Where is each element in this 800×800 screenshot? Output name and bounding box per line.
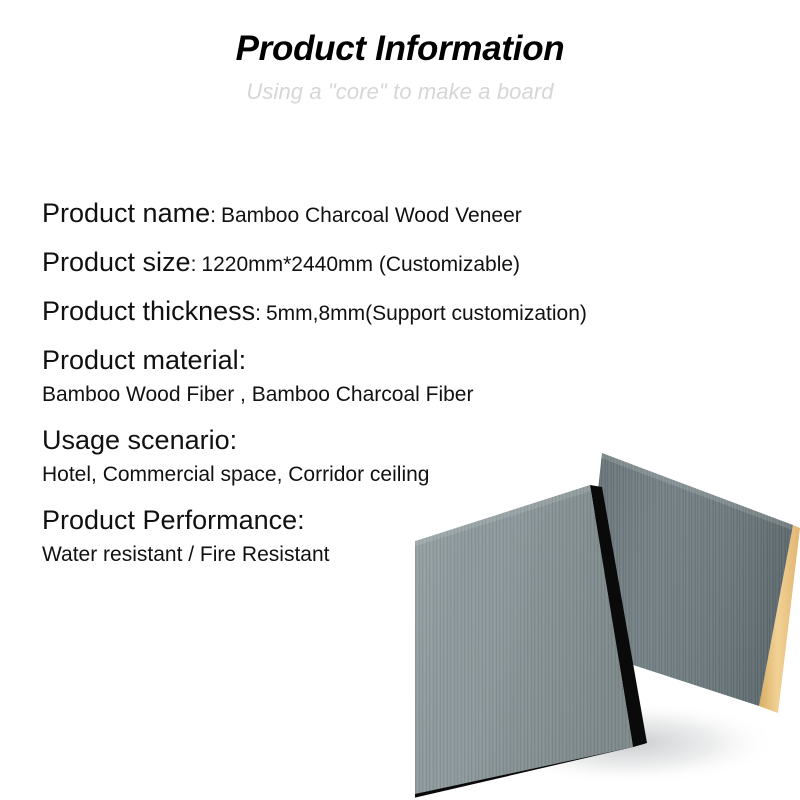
spec-row-product-performance-value: Water resistant / Fire Resistant	[42, 544, 702, 565]
spec-row-product-size: Product size:1220mm*2440mm (Customizable…	[42, 249, 702, 276]
spec-label-usage-scenario: Usage scenario	[42, 425, 230, 455]
spec-label-product-thickness: Product thickness	[42, 296, 255, 326]
spec-separator: :	[239, 345, 247, 375]
page-title: Product Information	[0, 30, 800, 69]
product-information-page: Product Information Using a "core" to ma…	[0, 0, 800, 800]
spec-value-product-material: Bamboo Wood Fiber , Bamboo Charcoal Fibe…	[42, 383, 473, 406]
spec-row-product-thickness: Product thickness:5mm,8mm(Support custom…	[42, 298, 702, 325]
product-spec-list: Product name:Bamboo Charcoal Wood Veneer…	[42, 200, 702, 587]
spec-label-product-material: Product material	[42, 345, 239, 375]
spec-row-product-material-label: Product material:	[42, 347, 702, 374]
spec-value-product-name: Bamboo Charcoal Wood Veneer	[216, 204, 522, 227]
spec-label-product-size: Product size	[42, 247, 191, 277]
spec-value-product-thickness: 5mm,8mm(Support customization)	[261, 302, 587, 325]
page-subtitle: Using a "core" to make a board	[0, 80, 800, 104]
spec-row-product-performance-label: Product Performance:	[42, 507, 702, 534]
spec-label-product-name: Product name	[42, 198, 210, 228]
spec-value-usage-scenario: Hotel, Commercial space, Corridor ceilin…	[42, 463, 429, 486]
spec-row-product-material-value: Bamboo Wood Fiber , Bamboo Charcoal Fibe…	[42, 384, 702, 405]
spec-row-usage-scenario-value: Hotel, Commercial space, Corridor ceilin…	[42, 464, 702, 485]
spec-value-product-performance: Water resistant / Fire Resistant	[42, 543, 329, 566]
spec-label-product-performance: Product Performance	[42, 505, 297, 535]
spec-row-product-name: Product name:Bamboo Charcoal Wood Veneer	[42, 200, 702, 227]
spec-row-usage-scenario-label: Usage scenario:	[42, 427, 702, 454]
spec-separator: :	[297, 505, 305, 535]
spec-separator: :	[230, 425, 238, 455]
page-header: Product Information Using a "core" to ma…	[0, 30, 800, 104]
spec-value-product-size: 1220mm*2440mm (Customizable)	[196, 253, 520, 276]
